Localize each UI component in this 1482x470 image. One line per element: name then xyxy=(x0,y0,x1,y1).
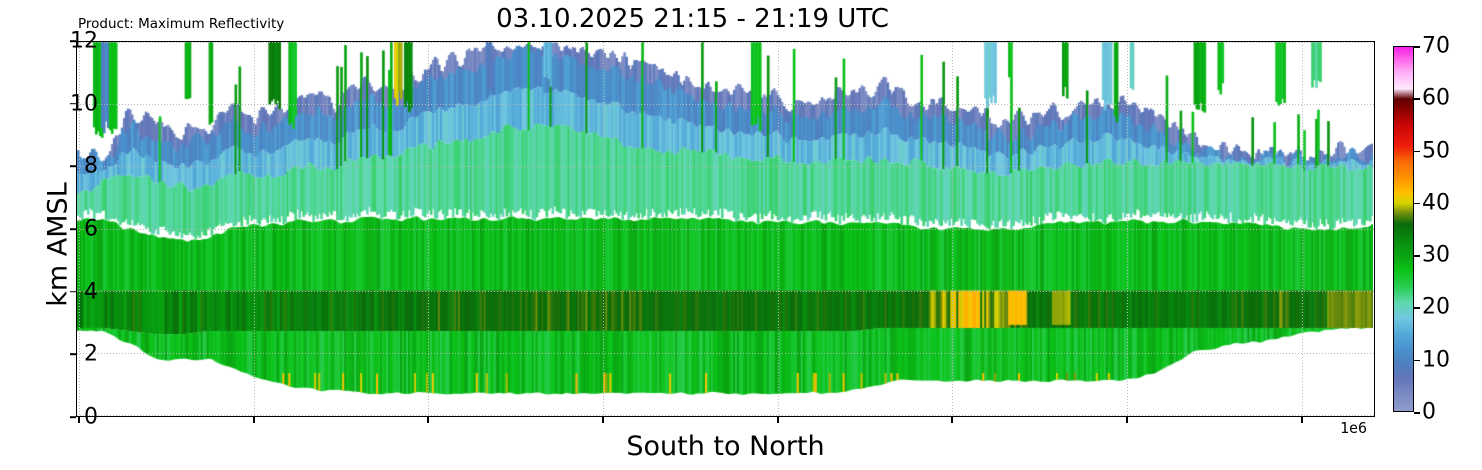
colorbar-tick-mark xyxy=(1414,151,1420,153)
x-tick-mark xyxy=(253,417,255,423)
x-tick-mark xyxy=(777,417,779,423)
colorbar-tick-label: 10 xyxy=(1422,347,1450,372)
x-tick-mark xyxy=(78,417,80,423)
y-axis-label: km AMSL xyxy=(43,145,74,345)
colorbar-tick-mark xyxy=(1414,412,1420,414)
x-tick-mark xyxy=(427,417,429,423)
y-tick-label: 10 xyxy=(70,91,98,116)
reflectivity-heatmap xyxy=(77,42,1373,415)
plot-area xyxy=(76,41,1375,417)
y-tick-mark xyxy=(70,354,76,356)
colorbar-tick-label: 20 xyxy=(1422,295,1450,320)
page-title: 03.10.2025 21:15 - 21:19 UTC xyxy=(0,4,1385,34)
colorbar-tick-label: 0 xyxy=(1422,400,1436,425)
colorbar-tick-label: 70 xyxy=(1422,34,1450,59)
colorbar-tick-mark xyxy=(1414,307,1420,309)
x-tick-mark xyxy=(1301,417,1303,423)
colorbar-tick-mark xyxy=(1414,98,1420,100)
colorbar-tick-mark xyxy=(1414,255,1420,257)
y-tick-label: 0 xyxy=(84,405,98,430)
x-axis-label: South to North xyxy=(76,431,1375,462)
colorbar-tick-mark xyxy=(1414,203,1420,205)
x-tick-mark xyxy=(1126,417,1128,423)
x-axis-offset-label: 1e6 xyxy=(1340,419,1367,437)
y-tick-label: 8 xyxy=(84,154,98,179)
colorbar-tick-label: 50 xyxy=(1422,138,1450,163)
colorbar-tick-mark xyxy=(1414,360,1420,362)
colorbar: 010203040506070 xyxy=(1393,46,1414,412)
x-tick-mark xyxy=(602,417,604,423)
colorbar-tick-mark xyxy=(1414,46,1420,48)
colorbar-tick-label: 60 xyxy=(1422,86,1450,111)
x-tick-mark xyxy=(951,417,953,423)
y-tick-label: 6 xyxy=(84,217,98,242)
colorbar-tick-label: 30 xyxy=(1422,243,1450,268)
radar-cross-section-figure: Product: Maximum Reflectivity 03.10.2025… xyxy=(0,0,1482,470)
gridline-horizontal xyxy=(77,415,1374,416)
y-tick-label: 4 xyxy=(84,279,98,304)
y-tick-label: 12 xyxy=(70,29,98,54)
y-tick-mark xyxy=(70,416,76,418)
colorbar-tick-label: 40 xyxy=(1422,190,1450,215)
y-tick-label: 2 xyxy=(84,342,98,367)
colorbar-gradient xyxy=(1393,46,1414,412)
